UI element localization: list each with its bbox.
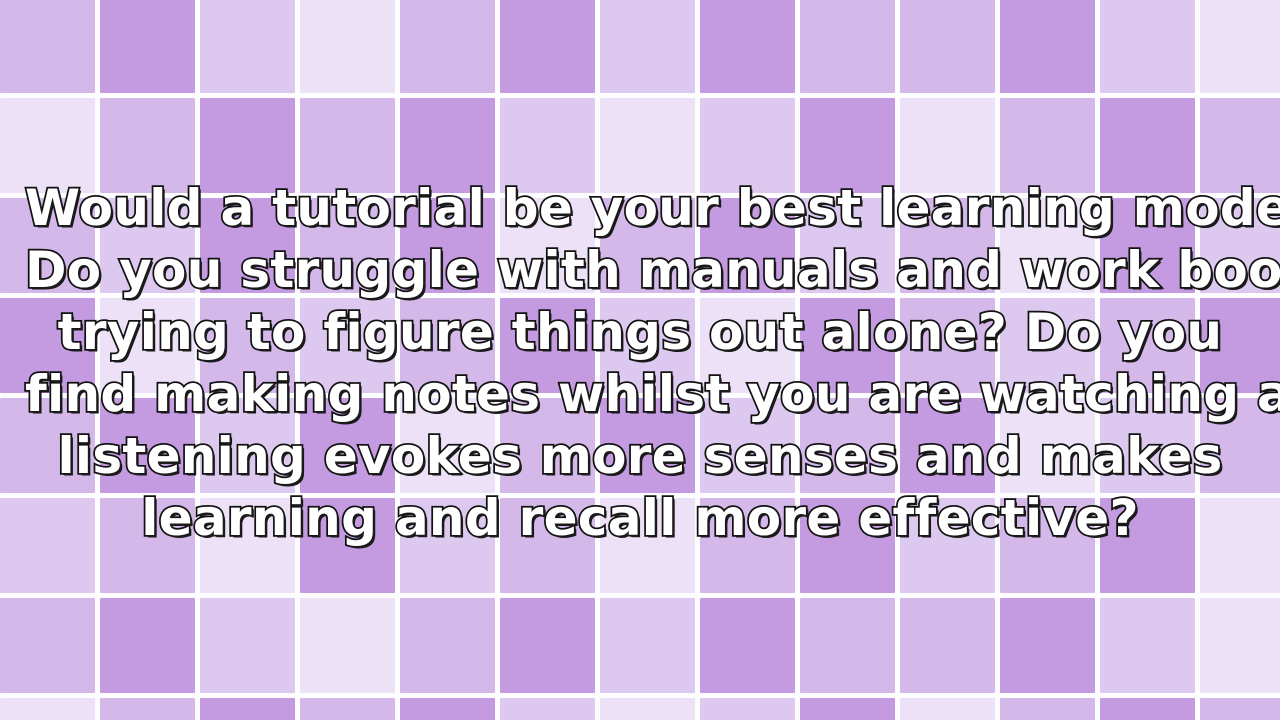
mosaic-tile	[0, 498, 95, 593]
mosaic-tile	[1200, 198, 1280, 293]
mosaic-tile	[600, 0, 695, 93]
mosaic-tile	[300, 0, 395, 93]
mosaic-tile	[100, 398, 195, 493]
mosaic-tile	[600, 298, 695, 393]
mosaic-tile	[900, 598, 995, 693]
mosaic-tile	[700, 598, 795, 693]
mosaic-tile	[400, 98, 495, 193]
mosaic-tile	[0, 198, 95, 293]
mosaic-tile	[600, 398, 695, 493]
mosaic-tile	[0, 0, 95, 93]
mosaic-tile	[100, 0, 195, 93]
mosaic-tile	[200, 0, 295, 93]
mosaic-tile	[900, 0, 995, 93]
mosaic-tile	[800, 598, 895, 693]
mosaic-tile	[700, 498, 795, 593]
mosaic-tile	[200, 498, 295, 593]
tile-mosaic-background	[0, 0, 1280, 720]
mosaic-tile	[700, 98, 795, 193]
mosaic-tile	[300, 398, 395, 493]
mosaic-tile	[100, 698, 195, 720]
mosaic-tile	[1100, 598, 1195, 693]
mosaic-tile	[500, 198, 595, 293]
mosaic-tile	[600, 598, 695, 693]
mosaic-tile	[800, 98, 895, 193]
mosaic-tile	[500, 0, 595, 93]
mosaic-tile	[0, 698, 95, 720]
mosaic-tile	[1200, 698, 1280, 720]
mosaic-tile	[400, 498, 495, 593]
mosaic-tile	[400, 398, 495, 493]
mosaic-tile	[500, 498, 595, 593]
mosaic-tile	[100, 498, 195, 593]
mosaic-tile	[800, 498, 895, 593]
mosaic-tile	[700, 0, 795, 93]
mosaic-tile	[100, 298, 195, 393]
mosaic-tile	[400, 598, 495, 693]
mosaic-tile	[0, 398, 95, 493]
mosaic-tile	[1000, 98, 1095, 193]
mosaic-tile	[1100, 298, 1195, 393]
mosaic-tile	[200, 598, 295, 693]
mosaic-tile	[300, 98, 395, 193]
mosaic-tile	[900, 398, 995, 493]
mosaic-tile	[800, 298, 895, 393]
mosaic-tile	[900, 98, 995, 193]
mosaic-tile	[300, 298, 395, 393]
mosaic-tile	[1200, 98, 1280, 193]
mosaic-tile	[800, 198, 895, 293]
mosaic-tile	[600, 98, 695, 193]
mosaic-tile	[400, 198, 495, 293]
mosaic-tile	[200, 298, 295, 393]
mosaic-tile	[1100, 698, 1195, 720]
mosaic-tile	[600, 698, 695, 720]
mosaic-tile	[700, 398, 795, 493]
mosaic-tile	[1000, 0, 1095, 93]
mosaic-tile	[900, 198, 995, 293]
mosaic-tile	[500, 698, 595, 720]
mosaic-tile	[100, 598, 195, 693]
mosaic-tile	[500, 298, 595, 393]
mosaic-tile	[100, 98, 195, 193]
mosaic-tile	[1100, 398, 1195, 493]
mosaic-tile	[1200, 0, 1280, 93]
mosaic-tile	[1200, 598, 1280, 693]
mosaic-tile	[1000, 198, 1095, 293]
mosaic-tile	[300, 698, 395, 720]
mosaic-tile	[1000, 398, 1095, 493]
mosaic-tile	[300, 198, 395, 293]
mosaic-tile	[200, 398, 295, 493]
mosaic-tile	[1100, 0, 1195, 93]
mosaic-tile	[600, 198, 695, 293]
mosaic-tile	[400, 698, 495, 720]
mosaic-tile	[400, 0, 495, 93]
mosaic-tile	[1100, 198, 1195, 293]
mosaic-tile	[1200, 398, 1280, 493]
mosaic-tile	[900, 698, 995, 720]
mosaic-tile	[600, 498, 695, 593]
mosaic-tile	[100, 198, 195, 293]
mosaic-tile	[1000, 598, 1095, 693]
mosaic-tile	[1000, 498, 1095, 593]
slide-canvas: Would a tutorial be your best learning m…	[0, 0, 1280, 720]
mosaic-tile	[1200, 498, 1280, 593]
mosaic-tile	[700, 198, 795, 293]
mosaic-tile	[500, 398, 595, 493]
mosaic-tile	[500, 598, 595, 693]
mosaic-tile	[900, 298, 995, 393]
mosaic-tile	[1100, 498, 1195, 593]
mosaic-tile	[200, 98, 295, 193]
mosaic-tile	[1200, 298, 1280, 393]
mosaic-tile	[700, 698, 795, 720]
mosaic-tile	[0, 598, 95, 693]
mosaic-tile	[800, 398, 895, 493]
mosaic-tile	[800, 698, 895, 720]
mosaic-tile	[400, 298, 495, 393]
mosaic-tile	[1000, 298, 1095, 393]
mosaic-tile	[500, 98, 595, 193]
mosaic-tile	[800, 0, 895, 93]
mosaic-tile	[700, 298, 795, 393]
mosaic-tile	[300, 498, 395, 593]
mosaic-tile	[0, 98, 95, 193]
mosaic-tile	[200, 198, 295, 293]
mosaic-tile	[300, 598, 395, 693]
mosaic-tile	[900, 498, 995, 593]
mosaic-tile	[1000, 698, 1095, 720]
mosaic-tile	[200, 698, 295, 720]
mosaic-tile	[0, 298, 95, 393]
mosaic-tile	[1100, 98, 1195, 193]
